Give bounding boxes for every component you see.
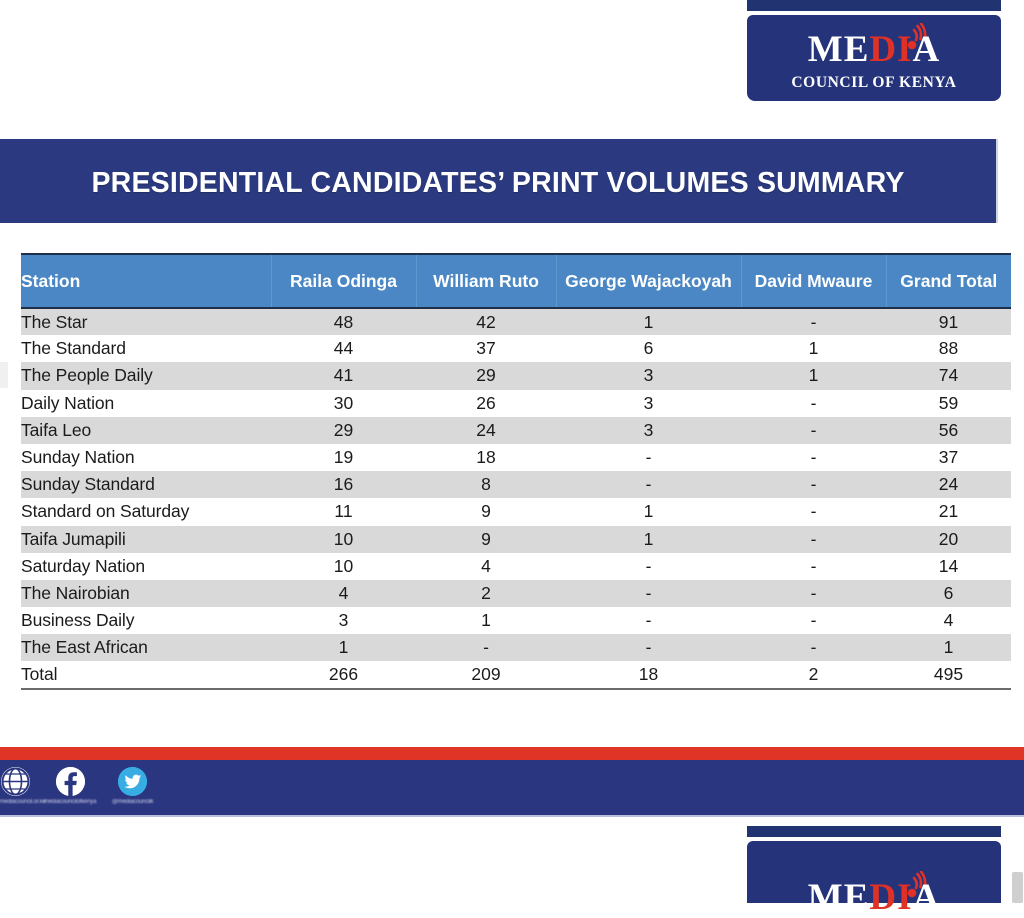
cell-total: 4	[886, 607, 1011, 634]
cell-raila: 41	[271, 362, 416, 389]
cell-mwaure: -	[741, 390, 886, 417]
left-edge-artifact	[0, 362, 8, 388]
page-title: PRESIDENTIAL CANDIDATES’ PRINT VOLUMES S…	[0, 167, 996, 200]
cell-ruto: 2	[416, 580, 556, 607]
cell-station: The East African	[21, 634, 271, 661]
table-row: The People Daily 41 29 3 1 74	[21, 362, 1011, 389]
cell-total: 24	[886, 471, 1011, 498]
cell-total: 1	[886, 634, 1011, 661]
cell-wajackoyah: -	[556, 444, 741, 471]
table-row: Taifa Jumapili 10 9 1 - 20	[21, 526, 1011, 553]
website-globe-icon	[1, 767, 30, 796]
column-header-raila[interactable]: Raila Odinga	[271, 254, 416, 308]
cell-station: Sunday Standard	[21, 471, 271, 498]
table-row: Saturday Nation 10 4 - - 14	[21, 553, 1011, 580]
cell-raila: 29	[271, 417, 416, 444]
table-row: The Star 48 42 1 - 91	[21, 308, 1011, 335]
cell-total: 20	[886, 526, 1011, 553]
cell-mwaure: -	[741, 634, 886, 661]
cell-station: Daily Nation	[21, 390, 271, 417]
cell-total: 21	[886, 498, 1011, 525]
cell-wajackoyah: 3	[556, 390, 741, 417]
cell-raila: 19	[271, 444, 416, 471]
table-header: Station Raila Odinga William Ruto George…	[21, 254, 1011, 308]
logo-top-accent-bar	[747, 0, 1001, 11]
print-volumes-table: Station Raila Odinga William Ruto George…	[21, 253, 1011, 690]
cell-station: The Star	[21, 308, 271, 335]
logo-card-bottom: MEDIA	[747, 841, 1001, 903]
cell-wajackoyah: -	[556, 580, 741, 607]
table-row: The East African 1 - - - 1	[21, 634, 1011, 661]
media-council-logo-bottom: MEDIA	[747, 826, 1001, 903]
social-label-twitter: @mediacouncilk	[112, 799, 153, 805]
logo-wordmark-bottom: MEDIA	[747, 879, 1001, 916]
social-link-facebook[interactable]: mediacouncilofkenya	[44, 767, 96, 805]
cell-mwaure-total: 2	[741, 661, 886, 688]
cell-mwaure: -	[741, 444, 886, 471]
cell-wajackoyah: 3	[556, 362, 741, 389]
logo-wordmark-a: A	[913, 877, 941, 918]
cell-total: 37	[886, 444, 1011, 471]
table-total-row: Total 266 209 18 2 495	[21, 661, 1011, 688]
social-label-website: www.mediacouncil.or.ke	[0, 799, 46, 805]
cell-ruto: 18	[416, 444, 556, 471]
cell-wajackoyah: 6	[556, 335, 741, 362]
cell-station: The Standard	[21, 335, 271, 362]
cell-station: The Nairobian	[21, 580, 271, 607]
cell-ruto: 24	[416, 417, 556, 444]
table-body: The Star 48 42 1 - 91 The Standard 44 37…	[21, 308, 1011, 689]
cell-station: Saturday Nation	[21, 553, 271, 580]
cell-mwaure: -	[741, 308, 886, 335]
cell-raila: 48	[271, 308, 416, 335]
table-row: Daily Nation 30 26 3 - 59	[21, 390, 1011, 417]
cell-station: Taifa Jumapili	[21, 526, 271, 553]
cell-mwaure: -	[741, 607, 886, 634]
cell-total: 74	[886, 362, 1011, 389]
table-row: Standard on Saturday 11 9 1 - 21	[21, 498, 1011, 525]
slide-title-band: PRESIDENTIAL CANDIDATES’ PRINT VOLUMES S…	[0, 139, 998, 223]
facebook-icon	[56, 767, 85, 796]
cell-wajackoyah: -	[556, 471, 741, 498]
column-header-ruto[interactable]: William Ruto	[416, 254, 556, 308]
cell-raila: 3	[271, 607, 416, 634]
cell-mwaure: -	[741, 417, 886, 444]
cell-wajackoyah: -	[556, 634, 741, 661]
cell-raila: 16	[271, 471, 416, 498]
cell-ruto: 4	[416, 553, 556, 580]
cell-total: 91	[886, 308, 1011, 335]
table-row: Sunday Standard 16 8 - - 24	[21, 471, 1011, 498]
cell-wajackoyah-total: 18	[556, 661, 741, 688]
cell-mwaure: -	[741, 580, 886, 607]
logo-card: MEDIA COUNCIL OF KENYA	[747, 15, 1001, 101]
footer-navy-bar: www.mediacouncil.or.ke mediacouncilofken…	[0, 760, 1024, 817]
cell-wajackoyah: 1	[556, 308, 741, 335]
cell-mwaure: 1	[741, 335, 886, 362]
logo-wordmark-di: DI	[869, 29, 912, 70]
table-row: The Standard 44 37 6 1 88	[21, 335, 1011, 362]
cell-raila: 30	[271, 390, 416, 417]
column-header-station[interactable]: Station	[21, 254, 271, 308]
cell-ruto-total: 209	[416, 661, 556, 688]
cell-mwaure: -	[741, 553, 886, 580]
cell-total: 59	[886, 390, 1011, 417]
cell-raila: 10	[271, 553, 416, 580]
social-label-facebook: mediacouncilofkenya	[44, 799, 96, 805]
social-link-twitter[interactable]: @mediacouncilk	[112, 767, 153, 805]
social-link-website[interactable]: www.mediacouncil.or.ke	[0, 767, 46, 805]
twitter-icon	[118, 767, 147, 796]
cell-total: 6	[886, 580, 1011, 607]
logo-subtitle: COUNCIL OF KENYA	[747, 74, 1001, 92]
cell-grand-total: 495	[886, 661, 1011, 688]
cell-total: 14	[886, 553, 1011, 580]
cell-ruto: 9	[416, 526, 556, 553]
cell-ruto: 26	[416, 390, 556, 417]
cell-ruto: 9	[416, 498, 556, 525]
table-row: Sunday Nation 19 18 - - 37	[21, 444, 1011, 471]
cell-station: Taifa Leo	[21, 417, 271, 444]
cell-ruto: 8	[416, 471, 556, 498]
table-row: Taifa Leo 29 24 3 - 56	[21, 417, 1011, 444]
cell-raila: 4	[271, 580, 416, 607]
cell-wajackoyah: 1	[556, 526, 741, 553]
table-row: Business Daily 3 1 - - 4	[21, 607, 1011, 634]
column-header-grand-total[interactable]: Grand Total	[886, 254, 1011, 308]
cell-total: 88	[886, 335, 1011, 362]
scrollbar-thumb[interactable]	[1012, 872, 1023, 903]
table-header-row: Station Raila Odinga William Ruto George…	[21, 254, 1011, 308]
cell-raila-total: 266	[271, 661, 416, 688]
cell-station: Sunday Nation	[21, 444, 271, 471]
cell-raila: 1	[271, 634, 416, 661]
logo-wordmark-a: A	[913, 29, 941, 70]
cell-raila: 44	[271, 335, 416, 362]
cell-station: Business Daily	[21, 607, 271, 634]
cell-ruto: -	[416, 634, 556, 661]
media-council-logo-top: MEDIA COUNCIL OF KENYA	[747, 0, 1001, 101]
cell-wajackoyah: 3	[556, 417, 741, 444]
cell-wajackoyah: 1	[556, 498, 741, 525]
cell-station: Standard on Saturday	[21, 498, 271, 525]
cell-ruto: 1	[416, 607, 556, 634]
logo-wordmark: MEDIA	[747, 31, 1001, 68]
cell-wajackoyah: -	[556, 553, 741, 580]
cell-station: The People Daily	[21, 362, 271, 389]
cell-ruto: 37	[416, 335, 556, 362]
cell-mwaure: -	[741, 471, 886, 498]
column-header-mwaure[interactable]: David Mwaure	[741, 254, 886, 308]
cell-ruto: 42	[416, 308, 556, 335]
cell-wajackoyah: -	[556, 607, 741, 634]
cell-raila: 11	[271, 498, 416, 525]
logo-bottom-accent-bar	[747, 826, 1001, 837]
footer-red-accent-bar	[0, 747, 1024, 760]
column-header-wajackoyah[interactable]: George Wajackoyah	[556, 254, 741, 308]
cell-station-total: Total	[21, 661, 271, 688]
logo-wordmark-me: ME	[808, 877, 870, 918]
cell-mwaure: 1	[741, 362, 886, 389]
cell-mwaure: -	[741, 526, 886, 553]
logo-wordmark-me: ME	[808, 29, 870, 70]
table-row: The Nairobian 4 2 - - 6	[21, 580, 1011, 607]
logo-wordmark-di: DI	[869, 877, 912, 918]
cell-total: 56	[886, 417, 1011, 444]
cell-ruto: 29	[416, 362, 556, 389]
cell-raila: 10	[271, 526, 416, 553]
cell-mwaure: -	[741, 498, 886, 525]
